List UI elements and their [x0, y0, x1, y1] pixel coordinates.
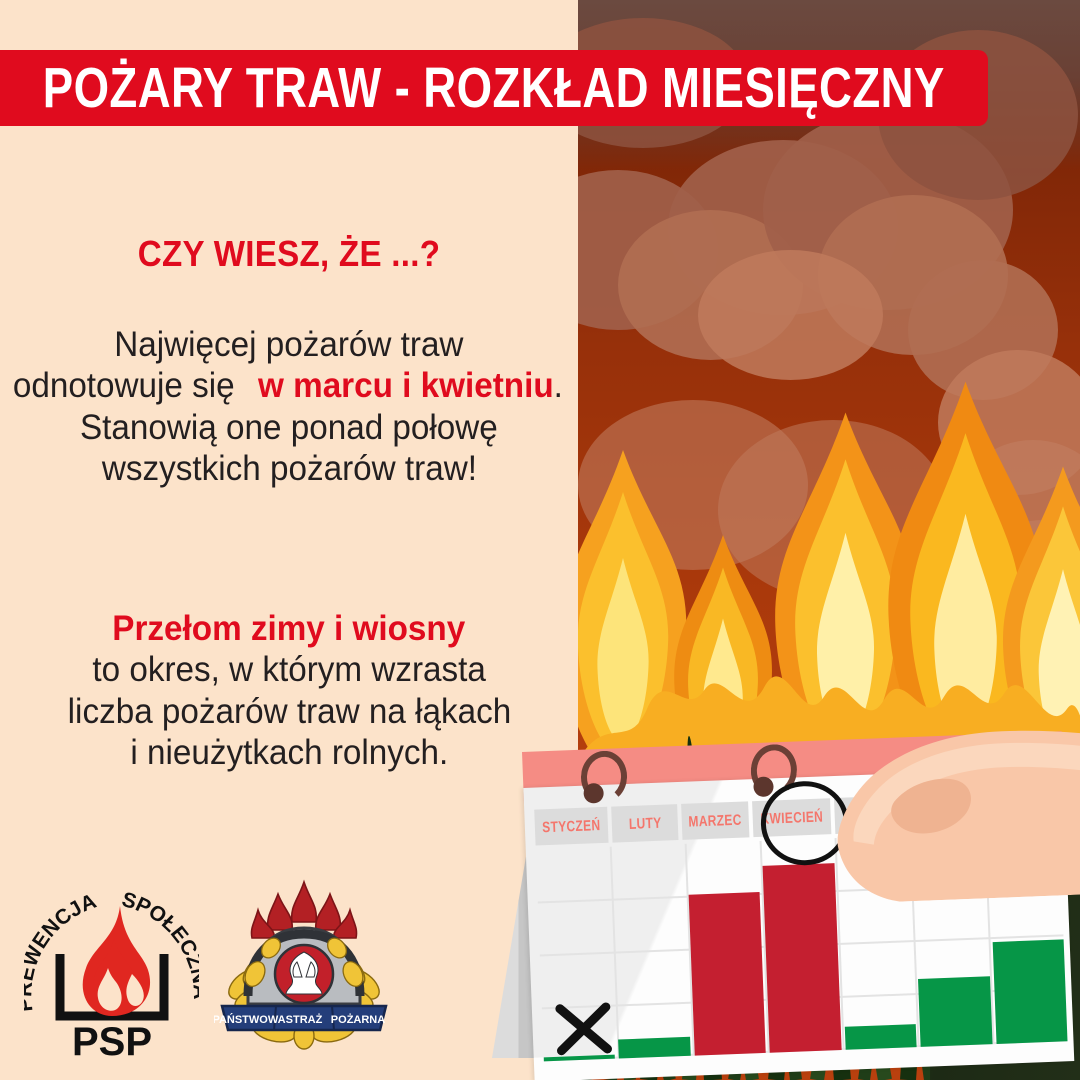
paragraph-season: Przełom zimy i wiosny to okres, w którym… — [0, 608, 578, 773]
calendar-bar-chart: STYCZEŃ LUTY MARZEC KWIECIEŃ MAJ CZERWIE… — [470, 752, 1080, 1080]
month-cell-styczen: STYCZEŃ — [534, 807, 608, 846]
paragraph1-line3-tail: . — [554, 366, 563, 405]
paragraph1-line1: Najwięcej pożarów traw — [114, 324, 463, 365]
cross-out-marker — [554, 999, 614, 1059]
title-banner: POŻARY TRAW - ROZKŁAD MIESIĘCZNY — [0, 50, 988, 126]
bar-marzec — [688, 892, 766, 1056]
page-title: POŻARY TRAW - ROZKŁAD MIESIĘCZNY — [43, 60, 945, 117]
prewencja-spoleczna-logo: PREWENCJA SPOŁECZNA PSP — [24, 882, 199, 1067]
paragraph-statistics: Najwięcej pożarów traw odnotowuje się w … — [0, 324, 578, 489]
hand-illustration — [773, 702, 1080, 906]
emblem-banner-word2: STRAŻ — [286, 1013, 323, 1026]
emblem-banner-word1: PAŃSTWOWA — [214, 1013, 286, 1026]
month-cell-marzec: MARZEC — [681, 801, 749, 840]
logo-psp-abbr: PSP — [72, 1020, 152, 1064]
bar-maj — [844, 1024, 916, 1050]
infographic-poster: POŻARY TRAW - ROZKŁAD MIESIĘCZNY CZY WIE… — [0, 0, 1080, 1080]
paragraph2-line3: liczba pożarów traw na łąkach — [67, 691, 511, 732]
bar-luty — [619, 1037, 691, 1059]
bar-lipiec — [992, 940, 1067, 1044]
paragraph1-line2: odnotowuje się — [13, 365, 235, 406]
paragraph2-line4: i nieużytkach rolnych. — [130, 732, 448, 773]
paragraph2-highlight-season: Przełom zimy i wiosny — [113, 609, 466, 648]
smoke-puff — [698, 250, 883, 380]
paragraph1-line5: wszystkich pożarów traw! — [101, 448, 476, 489]
emblem-banner-word3: POŻARNA — [331, 1013, 385, 1026]
headline-question: CZY WIESZ, ŻE ...? — [23, 233, 555, 275]
paragraph2-line2: to okres, w którym wzrasta — [92, 649, 486, 690]
paragraph1-highlight-months: w marcu i kwietniu — [258, 366, 554, 405]
logo-row: PREWENCJA SPOŁECZNA PSP — [24, 882, 404, 1072]
bar-czerwiec — [918, 976, 992, 1047]
psp-emblem: PAŃSTWOWA STRAŻ POŻARNA — [214, 878, 394, 1063]
month-cell-luty: LUTY — [611, 804, 679, 843]
paragraph1-line4: Stanowią one ponad połowę — [80, 407, 498, 448]
